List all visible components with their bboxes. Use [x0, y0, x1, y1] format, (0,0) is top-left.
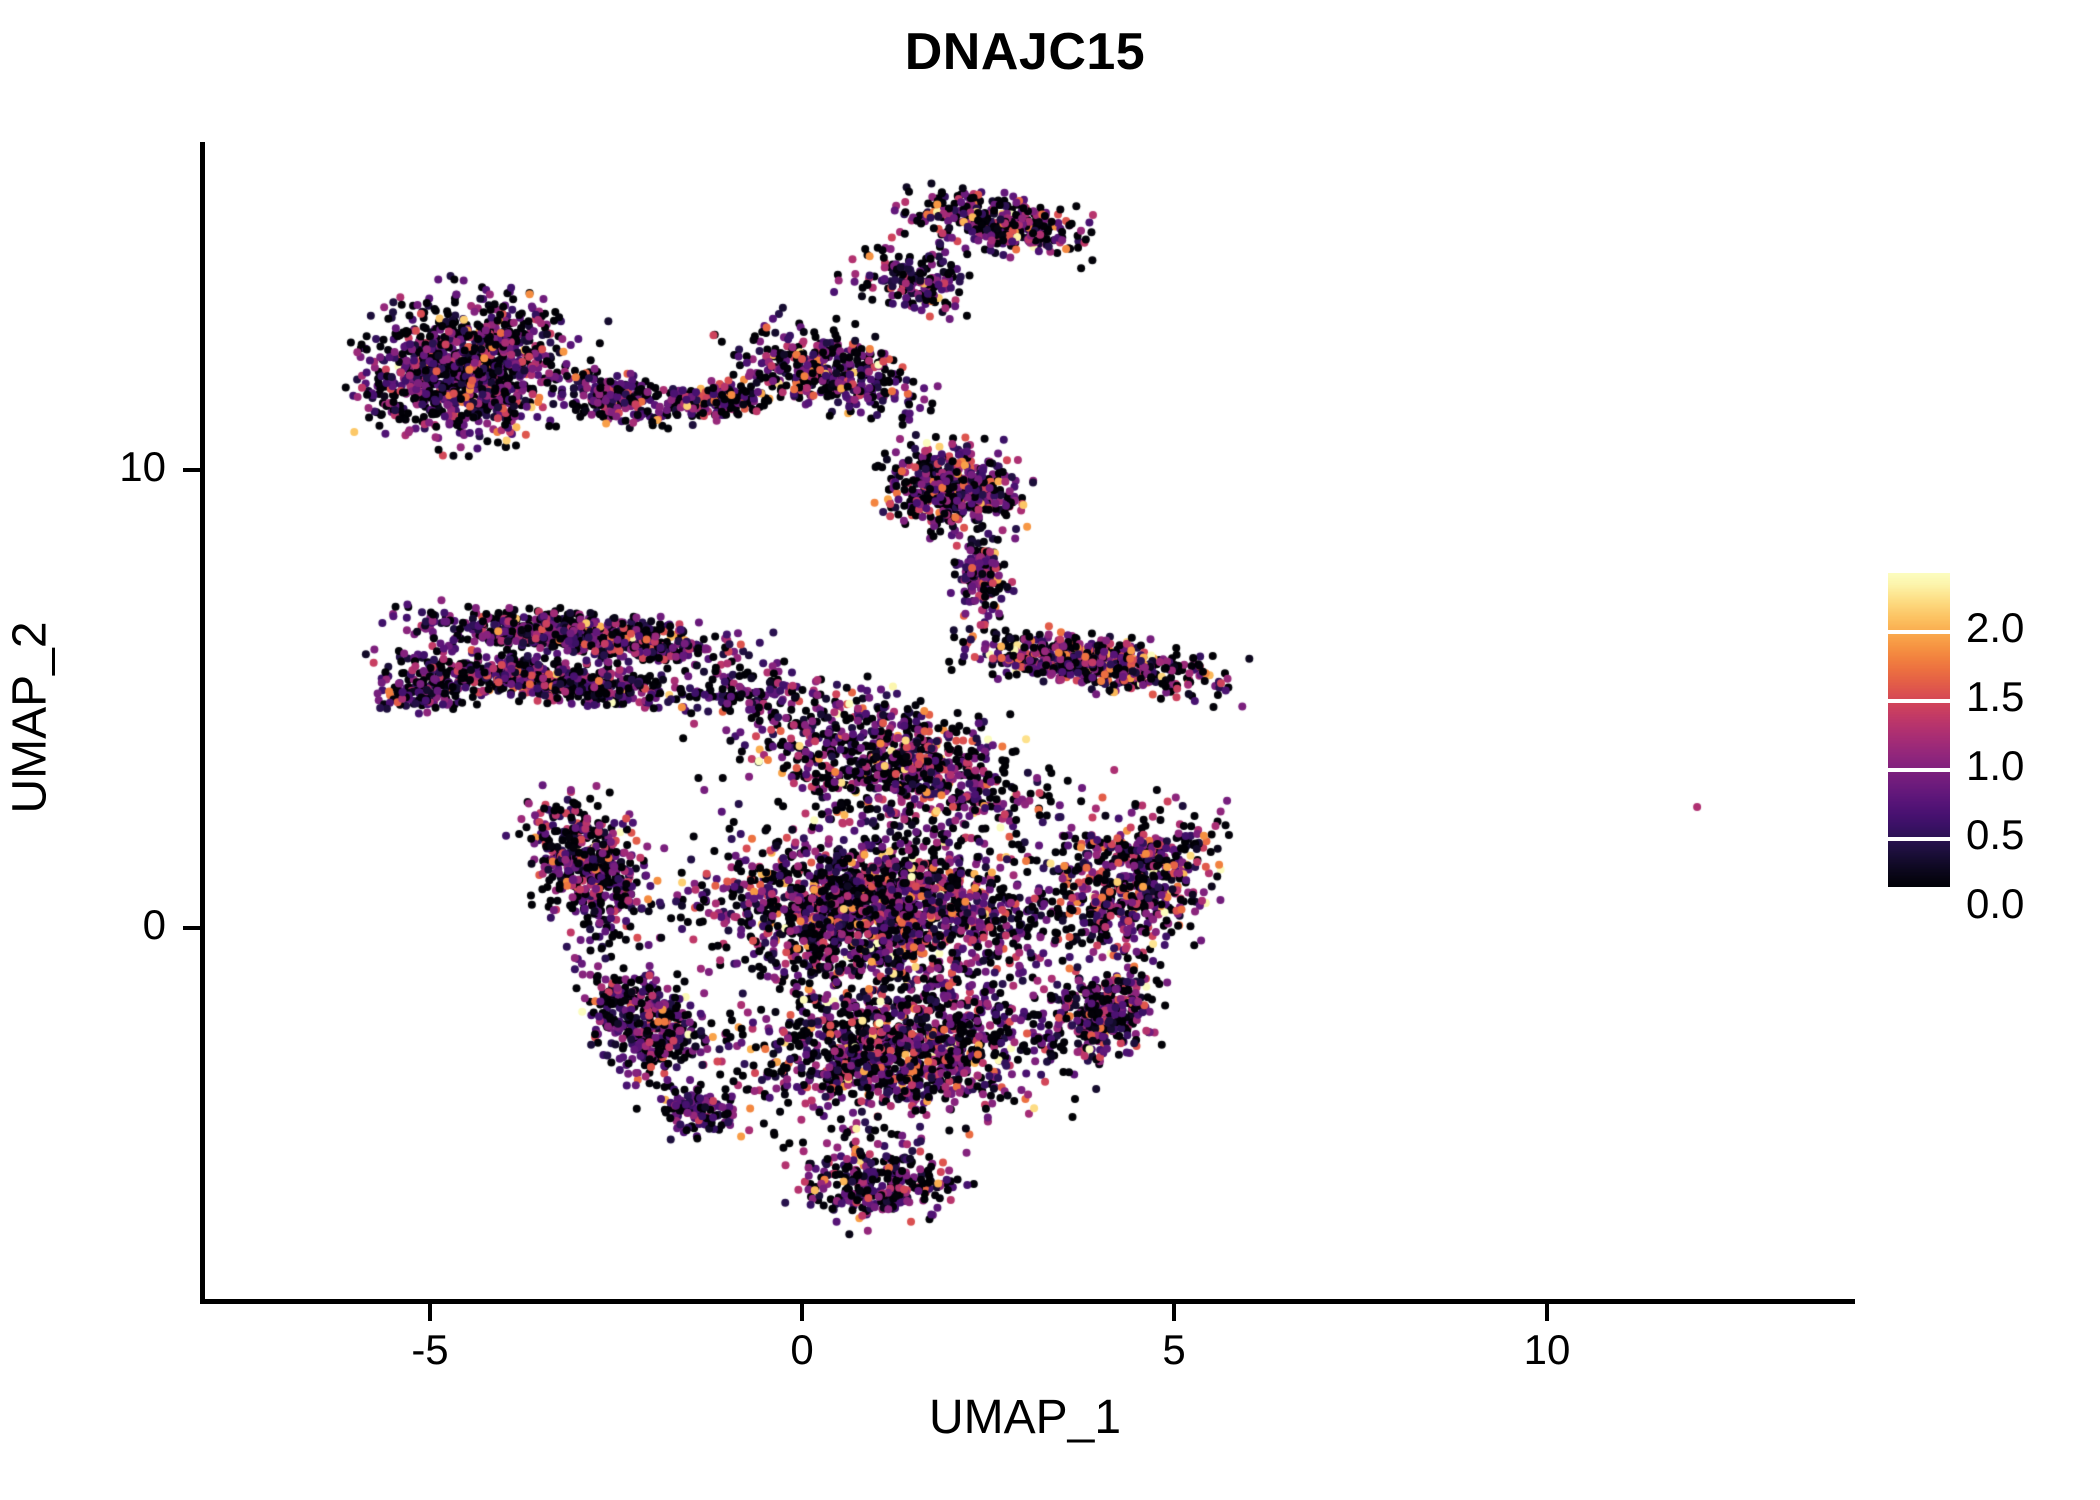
- y-axis-line: [200, 142, 205, 1304]
- y-axis-title: UMAP_2: [3, 418, 58, 1018]
- colorbar-label: 1.5: [1966, 673, 2024, 721]
- y-tick-label: 10: [46, 443, 166, 491]
- x-tick-mark: [428, 1304, 432, 1321]
- y-tick-mark: [183, 926, 200, 930]
- colorbar-label: 1.0: [1966, 742, 2024, 790]
- x-tick-label: -5: [370, 1326, 490, 1374]
- y-tick-mark: [183, 468, 200, 472]
- colorbar-tick: [1888, 630, 1950, 634]
- x-tick-label: 0: [742, 1326, 862, 1374]
- x-axis-title: UMAP_1: [0, 1390, 2050, 1445]
- y-tick-label: 0: [46, 901, 166, 949]
- colorbar-label: 2.0: [1966, 604, 2024, 652]
- x-tick-mark: [800, 1304, 804, 1321]
- colorbar-tick: [1888, 699, 1950, 703]
- x-tick-mark: [1172, 1304, 1176, 1321]
- x-tick-label: 5: [1114, 1326, 1234, 1374]
- colorbar-tick: [1888, 887, 1950, 891]
- umap-feature-plot: DNAJC15 -5 0 5 10 10 0 UMAP_1 UMAP_2 2.0…: [0, 0, 2100, 1500]
- colorbar-tick: [1888, 837, 1950, 841]
- x-axis-line: [200, 1299, 1855, 1304]
- colorbar-label: 0.0: [1966, 880, 2024, 928]
- colorbar-gradient: [1888, 573, 1950, 891]
- colorbar-label: 0.5: [1966, 811, 2024, 859]
- x-tick-mark: [1545, 1304, 1549, 1321]
- scatter-plot-canvas: [0, 0, 2100, 1500]
- x-tick-label: 10: [1487, 1326, 1607, 1374]
- colorbar-tick: [1888, 768, 1950, 772]
